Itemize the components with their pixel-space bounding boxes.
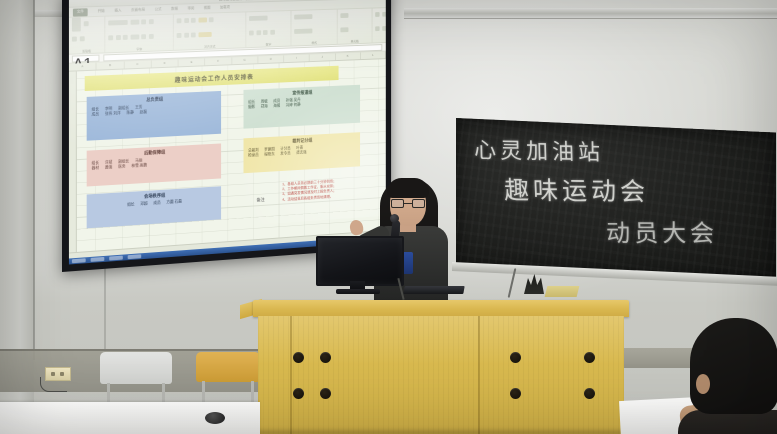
cell: 谭志强 — [296, 151, 306, 157]
lectern-top-surface — [253, 300, 629, 317]
col-a[interactable]: A — [69, 63, 97, 71]
align-top-icon[interactable] — [177, 18, 182, 23]
spreadsheet-grid[interactable]: 趣味运动会工作人员安排表 总负责组 组长 李明 副组长 王芳 成员 张伟 刘洋 … — [69, 59, 386, 252]
lectern-hole — [293, 352, 304, 363]
orientation-icon[interactable] — [209, 17, 214, 22]
taskbar-browser-button[interactable] — [128, 255, 142, 259]
ribbon-group-label-editing: 编辑 — [375, 38, 386, 43]
sheet-block-green: 宣传报道组 组长 周敏 成员 孙强 吴丹 摄影 郑海 海报 冯婷 何静 — [243, 85, 360, 129]
cell: 方圆 石磊 — [166, 199, 181, 205]
note-body: 1、各组人员务必提前三十分钟到场； 2、工作期间佩戴工作证，服从安排； 3、如遇… — [282, 177, 372, 203]
ribbon-group-label-number: 数字 — [249, 42, 288, 47]
outlet-cable — [40, 377, 67, 392]
cell: 器材 — [92, 166, 99, 172]
lectern-hole — [584, 388, 595, 399]
wrap-text-icon[interactable] — [198, 17, 206, 22]
col-j[interactable]: J — [310, 53, 336, 61]
col-g[interactable]: G — [232, 56, 258, 64]
fill-color-icon[interactable] — [141, 34, 146, 39]
cut-icon[interactable] — [83, 21, 88, 26]
ribbon-group-label-styles: 样式 — [294, 40, 334, 45]
chair-backrest — [196, 352, 260, 382]
number-format-select[interactable] — [249, 16, 268, 21]
align-middle-icon[interactable] — [184, 18, 189, 23]
tab-home[interactable]: 开始 — [98, 9, 105, 14]
ribbon-group-editing[interactable]: 编辑 — [373, 7, 386, 42]
pillar-edge — [33, 0, 35, 360]
font-name-select[interactable] — [108, 20, 127, 26]
cell: 程晓东 — [264, 153, 274, 159]
chalk-line-1: 心灵加油站 — [474, 133, 605, 168]
lectern-hole — [293, 388, 304, 399]
lectern-front-panel — [258, 316, 624, 434]
tab-insert[interactable]: 插入 — [114, 8, 121, 13]
insert-cells-icon[interactable] — [340, 13, 348, 18]
tab-addins[interactable]: 加载项 — [220, 5, 230, 10]
blackboard: 心灵加油站 趣味运动会 动员大会 — [456, 118, 776, 281]
ribbon-group-clipboard[interactable]: 剪贴板 — [69, 17, 105, 54]
col-c[interactable]: C — [124, 61, 151, 69]
font-color-icon[interactable] — [148, 34, 153, 39]
col-b[interactable]: B — [97, 62, 125, 70]
sheet-title-text: 趣味运动会工作人员安排表 — [175, 72, 254, 84]
cell: 摄影 — [248, 105, 255, 111]
col-d[interactable]: D — [152, 60, 179, 68]
lectern-hole — [510, 388, 521, 399]
merge-center-icon[interactable] — [198, 32, 211, 37]
presenter-bangs — [387, 178, 429, 198]
italic-icon[interactable] — [116, 35, 121, 40]
format-painter-icon[interactable] — [79, 36, 84, 41]
col-k[interactable]: K — [335, 52, 360, 60]
projection-screen: 趣味运动会工作人员安排表.xlsx - Microsoft Excel 文件 开… — [62, 0, 391, 272]
copy-icon[interactable] — [72, 36, 77, 41]
cell: 陈静 — [127, 111, 134, 117]
cell: 邓超 — [140, 202, 147, 208]
ribbon-group-number[interactable]: 数字 — [246, 11, 291, 47]
sheet-block-blue-bottom: 会场秩序组 组长 邓超 成员 方圆 石磊 — [87, 186, 221, 228]
percent-icon[interactable] — [256, 30, 261, 35]
row-header-column[interactable] — [69, 71, 77, 252]
lectern-hole — [320, 352, 331, 363]
underline-icon[interactable] — [123, 35, 128, 40]
col-l[interactable]: L — [361, 52, 386, 60]
ribbon-group-label-cells: 单元格 — [340, 39, 369, 44]
align-center-icon[interactable] — [184, 33, 189, 38]
cell: 林雪 高鹏 — [131, 164, 147, 170]
fill-icon[interactable] — [382, 12, 386, 17]
note-label: 备注 — [256, 197, 264, 203]
lectern-panel-seam — [290, 316, 292, 434]
currency-icon[interactable] — [249, 31, 254, 36]
tab-file[interactable]: 文件 — [73, 8, 88, 16]
cell: 发令员 — [280, 152, 290, 158]
tab-page-layout[interactable]: 页面布局 — [131, 8, 145, 13]
cell: 医务 — [118, 165, 125, 171]
grow-font-icon[interactable] — [141, 19, 146, 24]
decimal-icon[interactable] — [270, 30, 275, 35]
chair-backrest — [100, 352, 172, 384]
audience-ear — [696, 374, 710, 394]
projected-image: 趣味运动会工作人员安排表.xlsx - Microsoft Excel 文件 开… — [69, 0, 386, 264]
audience-member — [690, 318, 777, 434]
col-h[interactable]: H — [258, 55, 284, 63]
tab-view[interactable]: 视图 — [204, 6, 211, 11]
wall-dado-edge — [0, 349, 260, 351]
cell: 成员 — [153, 201, 160, 207]
desktop-monitor[interactable] — [316, 236, 400, 294]
cell: 张伟 刘洋 — [105, 112, 121, 118]
col-i[interactable]: I — [284, 54, 310, 62]
sheet-block-blue-top: 总负责组 组长 李明 副组长 王芳 成员 张伟 刘洋 陈静 赵磊 — [87, 91, 221, 141]
ceiling-trim — [404, 8, 777, 18]
ribbon-group-label-clipboard: 剪贴板 — [72, 49, 101, 54]
autosum-icon[interactable] — [375, 12, 379, 17]
tab-data[interactable]: 数据 — [171, 7, 178, 12]
sheet-block-yellow: 裁判记分组 总裁判 罗建国 计分员 叶青 检录员 程晓东 发令员 谭志强 — [243, 132, 360, 173]
chalk-line-3: 动员大会 — [605, 213, 718, 248]
wooden-lectern[interactable] — [258, 300, 624, 434]
name-box[interactable]: A1 — [72, 54, 100, 62]
taskbar-folder-button[interactable] — [109, 256, 123, 260]
tab-formulas[interactable]: 公式 — [155, 7, 162, 12]
chalk-line-2: 趣味运动会 — [503, 171, 649, 209]
align-bottom-icon[interactable] — [191, 18, 196, 23]
tab-review[interactable]: 审阅 — [187, 6, 194, 11]
cell: 成员 — [92, 113, 99, 119]
ribbon-group-styles[interactable]: 样式 — [291, 10, 337, 46]
shrink-font-icon[interactable] — [148, 19, 153, 24]
lectern-panel-seam — [478, 316, 480, 434]
monitor-screen[interactable] — [316, 236, 404, 286]
ribbon-group-font[interactable]: 字体 — [105, 15, 174, 53]
lectern-hole — [510, 352, 521, 363]
delete-cells-icon[interactable] — [340, 27, 348, 32]
conditional-formatting-icon[interactable] — [294, 14, 312, 19]
lectern-floor-shadow — [252, 430, 632, 434]
col-f[interactable]: F — [205, 57, 232, 65]
lectern-hole — [584, 352, 595, 363]
ribbon-group-cells[interactable]: 单元格 — [338, 9, 373, 44]
foreground-object — [205, 412, 225, 424]
glasses-icon — [391, 199, 425, 208]
paste-icon[interactable] — [72, 17, 81, 31]
cell: 冯婷 何静 — [286, 103, 301, 109]
audience-hair — [690, 318, 777, 414]
border-icon[interactable] — [130, 34, 139, 39]
microphone-head — [390, 214, 399, 223]
col-e[interactable]: E — [179, 58, 206, 66]
ribbon-group-alignment[interactable]: 对齐方式 — [174, 12, 246, 50]
sort-filter-icon[interactable] — [375, 26, 379, 31]
sheet-block-pink: 后勤保障组 组长 许斌 副组长 马丽 器材 黄强 医务 林雪 高鹏 — [87, 143, 221, 186]
desk-papers[interactable] — [545, 286, 580, 297]
bold-icon[interactable] — [108, 35, 113, 40]
lectern-hole — [320, 388, 331, 399]
taskbar-excel-button[interactable] — [91, 257, 105, 261]
taskbar-start-button[interactable] — [72, 259, 86, 263]
cell: 海报 — [273, 104, 280, 110]
cell: 组长 — [127, 202, 134, 208]
classroom-photo: 趣味运动会工作人员安排表.xlsx - Microsoft Excel 文件 开… — [0, 0, 777, 434]
monitor-base — [336, 289, 380, 294]
find-select-icon[interactable] — [382, 26, 386, 31]
align-left-icon[interactable] — [177, 33, 182, 38]
keyboard[interactable] — [403, 286, 464, 294]
comma-icon[interactable] — [263, 30, 268, 35]
font-size-select[interactable] — [130, 20, 139, 25]
cell: 赵磊 — [140, 110, 147, 116]
cell: 郑海 — [261, 105, 268, 111]
cell: 检录员 — [248, 153, 259, 159]
format-as-table-icon[interactable] — [294, 29, 312, 34]
cell: 黄强 — [105, 166, 112, 172]
align-right-icon[interactable] — [191, 32, 196, 37]
